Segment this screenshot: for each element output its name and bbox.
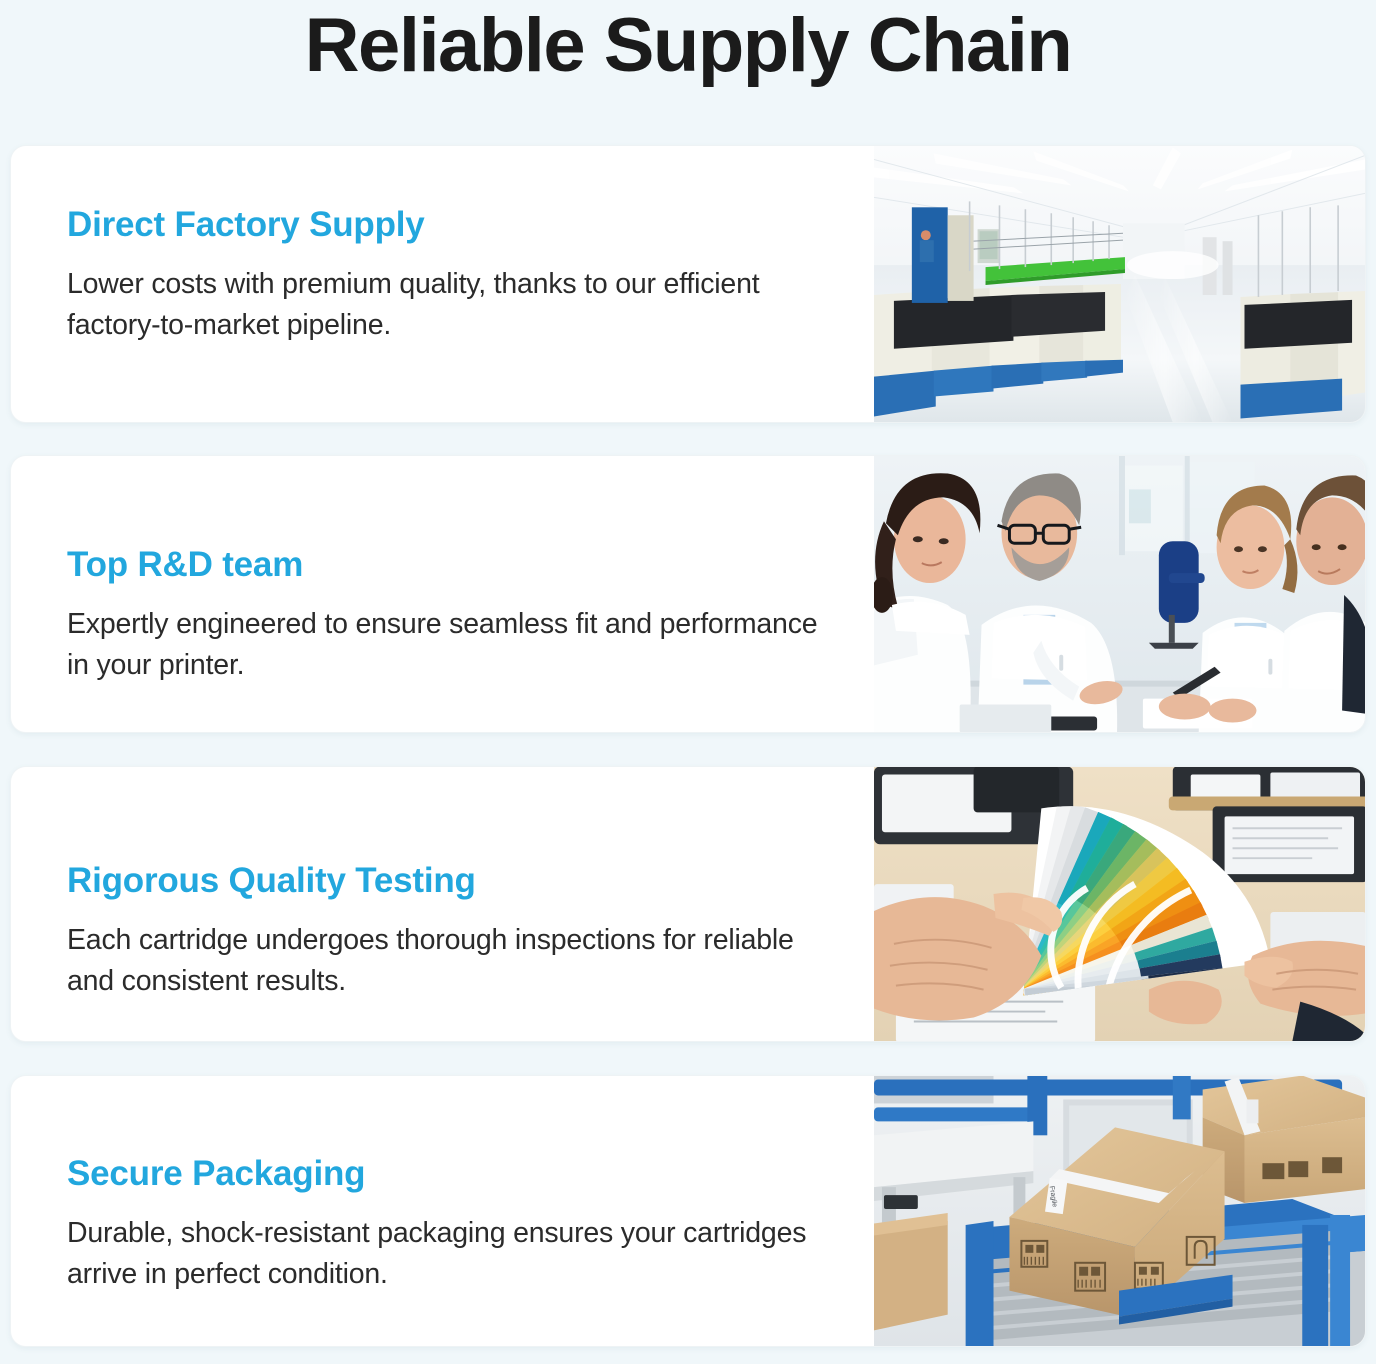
factory-production-line-image (874, 146, 1365, 422)
feature-card-top-rd-team: Top R&D team Expertly engineered to ensu… (10, 455, 1366, 733)
card-body-text: Lower costs with premium quality, thanks… (67, 264, 827, 346)
page-title: Reliable Supply Chain (0, 2, 1376, 90)
packaging-conveyor-image: Fragile (874, 1076, 1365, 1346)
color-swatch-inspection-image (874, 767, 1365, 1041)
feature-card-rigorous-quality-testing: Rigorous Quality Testing Each cartridge … (10, 766, 1366, 1042)
feature-card-direct-factory-supply: Direct Factory Supply Lower costs with p… (10, 145, 1366, 423)
card-text-block: Top R&D team Expertly engineered to ensu… (11, 456, 874, 732)
card-body-text: Each cartridge undergoes thorough inspec… (67, 920, 827, 1002)
card-heading: Top R&D team (67, 542, 834, 588)
card-heading: Direct Factory Supply (67, 202, 834, 248)
card-body-text: Durable, shock-resistant packaging ensur… (67, 1213, 827, 1295)
feature-card-secure-packaging: Secure Packaging Durable, shock-resistan… (10, 1075, 1366, 1347)
card-heading: Secure Packaging (67, 1151, 834, 1197)
feature-list-page: Reliable Supply Chain Direct Factory Sup… (0, 0, 1376, 1364)
card-text-block: Secure Packaging Durable, shock-resistan… (11, 1076, 874, 1346)
card-body-text: Expertly engineered to ensure seamless f… (67, 604, 827, 686)
research-team-image (874, 456, 1365, 732)
card-text-block: Direct Factory Supply Lower costs with p… (11, 146, 874, 422)
card-heading: Rigorous Quality Testing (67, 858, 834, 904)
card-text-block: Rigorous Quality Testing Each cartridge … (11, 767, 874, 1041)
